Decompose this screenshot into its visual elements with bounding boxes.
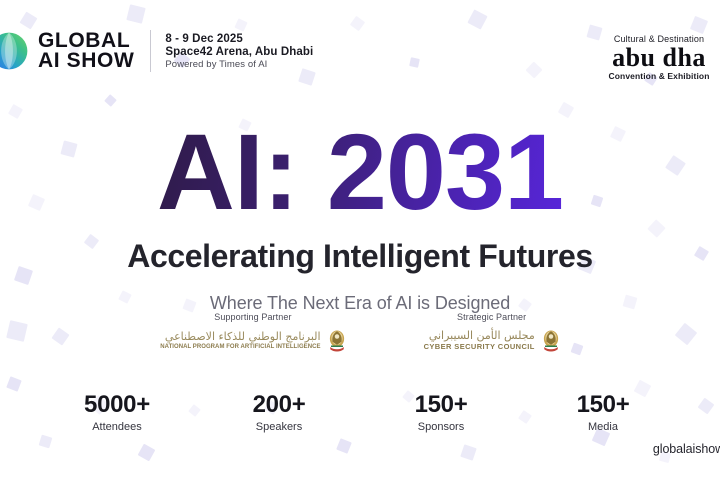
host-logo-name: abu dha (554, 44, 720, 71)
stat-label: Attendees (67, 421, 167, 433)
slide-header: GLOBAL AI SHOW 8 - 9 Dec 2025 Space42 Ar… (0, 28, 720, 88)
stat-value: 150+ (391, 392, 491, 417)
event-dates: 8 - 9 Dec 2025 (165, 33, 313, 45)
stat-label: Speakers (229, 421, 329, 433)
global-ai-show-wordmark: GLOBAL AI SHOW (38, 31, 134, 71)
partner-name-arabic: مجلس الأمن السيبراني (429, 330, 535, 342)
page-title: AI: 2031 (0, 118, 720, 226)
partner-supporting: Supporting Partner البرنامج الوطني للذكا… (160, 312, 345, 353)
partner-name-english: NATIONAL PROGRAM FOR ARTIFICIAL INTELLIG… (160, 344, 320, 351)
uae-falcon-crest-icon (542, 329, 560, 353)
event-keynote-slide: GLOBAL AI SHOW 8 - 9 Dec 2025 Space42 Ar… (0, 0, 720, 480)
partner-text: مجلس الأمن السيبراني CYBER SECURITY COUN… (424, 330, 535, 351)
header-divider (150, 30, 151, 72)
partner-label: Strategic Partner (457, 312, 526, 322)
event-venue: Space42 Arena, Abu Dhabi (165, 46, 313, 58)
stats-row: 5000+ Attendees 200+ Speakers 150+ Spons… (0, 392, 720, 433)
stat-label: Media (553, 421, 653, 433)
partner-text: البرنامج الوطني للذكاء الاصطناعي NATIONA… (160, 331, 320, 351)
stat-speakers: 200+ Speakers (229, 392, 329, 433)
stat-label: Sponsors (391, 421, 491, 433)
partner-name-arabic: البرنامج الوطني للذكاء الاصطناعي (165, 331, 321, 343)
uae-falcon-crest-icon (328, 329, 346, 353)
stat-value: 200+ (229, 392, 329, 417)
stat-media: 150+ Media (553, 392, 653, 433)
global-ai-show-brand-lockup: GLOBAL AI SHOW 8 - 9 Dec 2025 Space42 Ar… (4, 30, 313, 72)
host-logo-subtitle: Convention & Exhibition (554, 71, 720, 81)
stat-sponsors: 150+ Sponsors (391, 392, 491, 433)
partner-label: Supporting Partner (214, 312, 291, 322)
social-handle: globalaishow (653, 442, 720, 456)
stat-value: 5000+ (67, 392, 167, 417)
event-powered-by: Powered by Times of AI (165, 59, 313, 70)
wordmark-line-ai-show: AI SHOW (38, 51, 134, 71)
hero-tagline: Where The Next Era of AI is Designed (0, 293, 720, 314)
partners-section: Supporting Partner البرنامج الوطني للذكا… (0, 312, 720, 353)
partner-strategic: Strategic Partner مجلس الأمن السيبراني C… (424, 312, 560, 353)
partner-logo: البرنامج الوطني للذكاء الاصطناعي NATIONA… (160, 329, 345, 353)
abu-dhabi-convention-logo: Cultural & Destination abu dha Conventio… (554, 34, 720, 81)
stat-attendees: 5000+ Attendees (67, 392, 167, 433)
wordmark-line-global: GLOBAL (38, 31, 134, 51)
hero-subtitle: Accelerating Intelligent Futures (0, 240, 720, 272)
event-details: 8 - 9 Dec 2025 Space42 Arena, Abu Dhabi … (165, 33, 313, 70)
partner-logo: مجلس الأمن السيبراني CYBER SECURITY COUN… (424, 329, 560, 353)
globe-sphere-logo-icon (0, 30, 30, 72)
partner-name-english: CYBER SECURITY COUNCIL (424, 343, 535, 351)
hero-section: AI: 2031 Accelerating Intelligent Future… (0, 118, 720, 314)
stat-value: 150+ (553, 392, 653, 417)
